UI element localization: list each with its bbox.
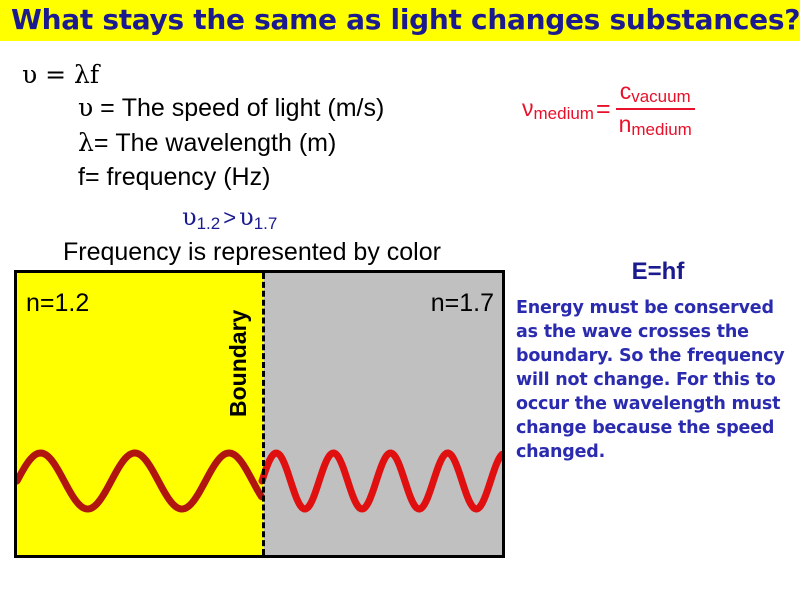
inequality-operator: > <box>223 205 236 230</box>
definition-speed-text: = The speed of light (m/s) <box>93 94 384 122</box>
wave-equation: υ = λf <box>22 60 99 89</box>
wave-right-path <box>262 453 502 509</box>
wave-graphic <box>17 273 502 555</box>
fraction-numerator: cvacuum <box>616 78 695 110</box>
medium-equation-lhs: νmedium <box>522 95 594 124</box>
symbol-nu: ν <box>522 95 534 121</box>
slide-canvas: What stays the same as light changes sub… <box>0 0 800 600</box>
symbol-c: c <box>620 78 632 104</box>
definition-wavelength: λ= The wavelength (m) <box>78 128 336 158</box>
diagram-caption: Frequency is represented by color <box>63 238 441 267</box>
inequality-left-subscript: 1.2 <box>197 214 221 233</box>
boundary-dashed-line <box>262 273 265 555</box>
energy-explanation-text: Energy must be conserved as the wave cro… <box>516 296 798 464</box>
label-refractive-index-right: n=1.7 <box>431 289 494 318</box>
inequality-right-subscript: 1.7 <box>254 214 278 233</box>
symbol-lambda: λ <box>78 128 94 157</box>
symbol-n: n <box>619 111 632 137</box>
energy-equation-heading: E=hf <box>516 258 800 286</box>
inequality-right-symbol: υ <box>239 203 254 231</box>
symbol-upsilon: υ <box>78 93 93 122</box>
speed-inequality: υ1.2>υ1.7 <box>182 203 277 234</box>
inequality-left-symbol: υ <box>182 203 197 231</box>
subscript-vacuum: vacuum <box>631 87 691 106</box>
boundary-label: Boundary <box>225 287 252 417</box>
definition-frequency-text: = frequency (Hz) <box>85 163 271 191</box>
fraction: cvacuum nmedium <box>615 78 696 140</box>
subscript-medium-denominator: medium <box>631 120 691 139</box>
subscript-medium-lhs: medium <box>534 104 594 123</box>
symbol-f: f <box>78 163 85 191</box>
definition-speed: υ = The speed of light (m/s) <box>78 93 384 123</box>
title-banner: What stays the same as light changes sub… <box>0 0 800 41</box>
page-title: What stays the same as light changes sub… <box>11 2 800 38</box>
medium-speed-equation: νmedium = cvacuum nmedium <box>522 78 696 140</box>
fraction-denominator: nmedium <box>615 110 696 140</box>
refraction-diagram: Boundary n=1.2 n=1.7 <box>14 270 505 558</box>
definition-frequency: f= frequency (Hz) <box>78 163 270 192</box>
label-refractive-index-left: n=1.2 <box>26 289 89 318</box>
definition-wavelength-text: = The wavelength (m) <box>94 129 336 157</box>
wave-left-path <box>17 453 262 509</box>
equals-sign: = <box>596 95 611 124</box>
